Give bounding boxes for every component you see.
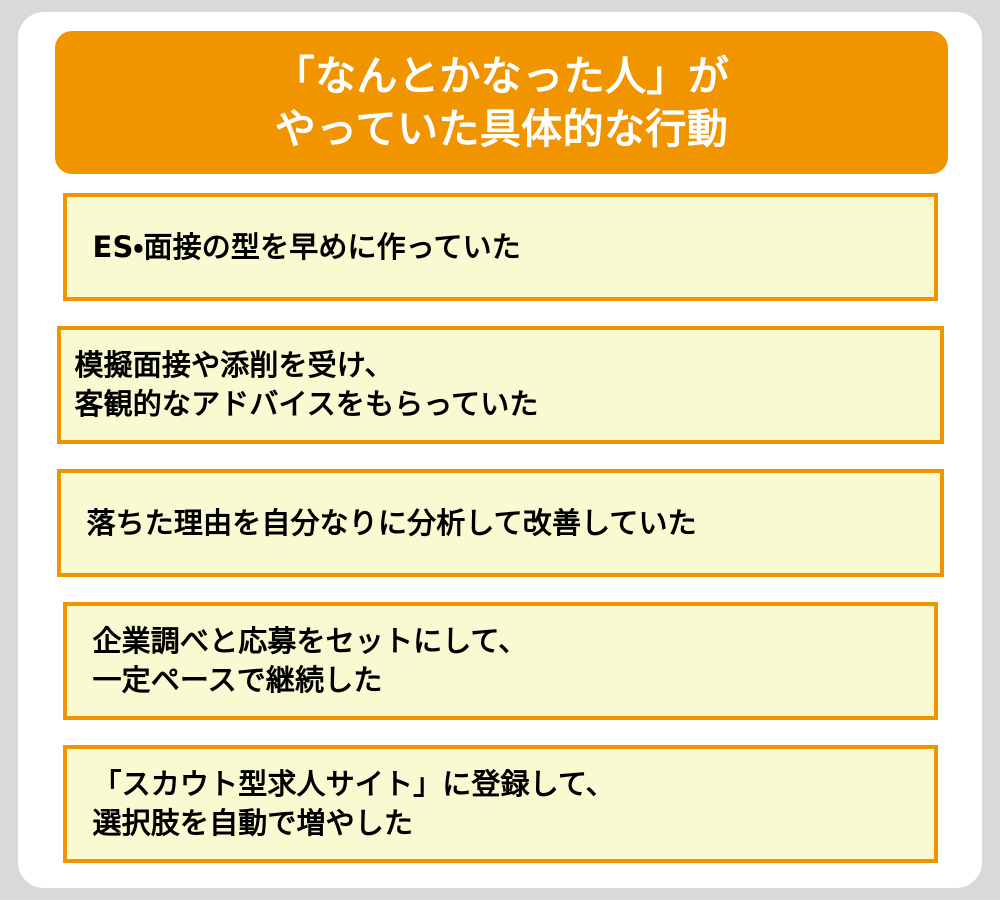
action-item-5-line-2: 選択肢を自動で増やした — [67, 804, 934, 843]
action-item-4-line-2: 一定ペースで継続した — [67, 661, 934, 700]
header-title-line-2: やっていた具体的な行動 — [275, 104, 728, 154]
action-item-3-line-1: 落ちた理由を自分なりに分析して改善していた — [61, 504, 940, 543]
action-item-2: 模擬面接や添削を受け、 客観的なアドバイスをもらっていた — [57, 326, 944, 444]
action-item-4-line-1: 企業調べと応募をセットにして、 — [67, 622, 934, 661]
action-items-list: ES・面接の型を早めに作っていた 模擬面接や添削を受け、 客観的なアドバイスをも… — [18, 193, 982, 888]
action-item-5: 「スカウト型求人サイト」に登録して、 選択肢を自動で増やした — [63, 745, 938, 863]
action-item-4: 企業調べと応募をセットにして、 一定ペースで継続した — [63, 602, 938, 720]
action-item-1: ES・面接の型を早めに作っていた — [63, 193, 938, 301]
header-banner: 「なんとかなった人」が やっていた具体的な行動 — [55, 31, 948, 174]
action-item-3: 落ちた理由を自分なりに分析して改善していた — [57, 469, 944, 577]
page-card: 「なんとかなった人」が やっていた具体的な行動 ES・面接の型を早めに作っていた… — [18, 12, 982, 888]
header-title-line-1: 「なんとかなった人」が — [274, 51, 730, 101]
action-item-1-line-1: ES・面接の型を早めに作っていた — [67, 228, 934, 267]
action-item-2-line-1: 模擬面接や添削を受け、 — [61, 346, 940, 385]
action-item-5-line-1: 「スカウト型求人サイト」に登録して、 — [67, 765, 934, 804]
action-item-2-line-2: 客観的なアドバイスをもらっていた — [61, 385, 940, 424]
